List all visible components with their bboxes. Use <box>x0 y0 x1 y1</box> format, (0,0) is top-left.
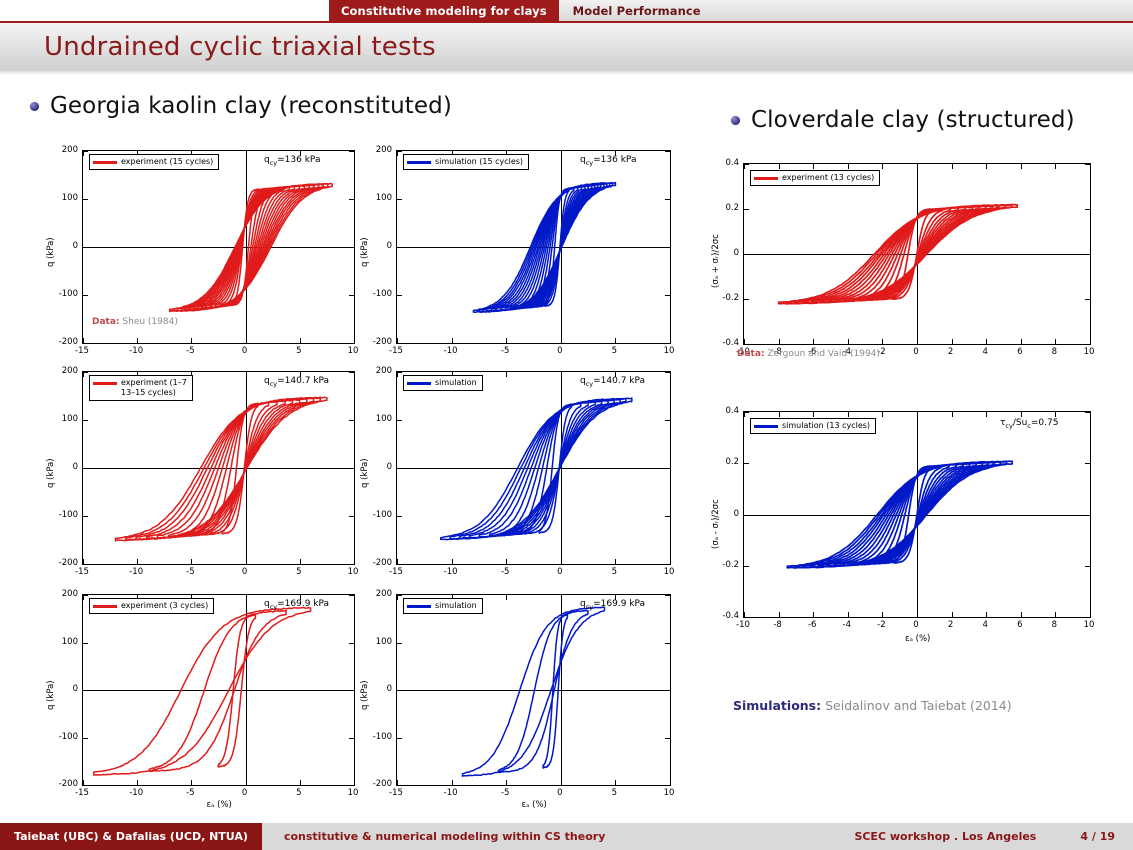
chart-xtick-label: 0 <box>557 788 562 798</box>
chart-xtick-label: 5 <box>612 567 617 577</box>
chart-annotation-value: =169.9 kPa <box>277 599 329 609</box>
chart-ytick-label: -100 <box>59 510 78 520</box>
chart-annotation-value: =136 kPa <box>593 155 636 165</box>
chart-xaxis-label: εₐ (%) <box>207 800 232 810</box>
nav-tab-constitutive-modeling[interactable]: Constitutive modeling for clays <box>329 0 559 21</box>
chart-xtick-label: 10 <box>348 567 359 577</box>
section-heading-cloverdale: Cloverdale clay (structured) <box>731 107 1075 133</box>
chart-ytick-label: -200 <box>373 779 392 789</box>
chart-ytick-label: -200 <box>59 558 78 568</box>
page-title: Undrained cyclic triaxial tests <box>0 32 436 62</box>
chart-xtick-label: 2 <box>948 347 953 357</box>
chart-legend-label: simulation (13 cycles) <box>782 421 870 431</box>
chart-ytick-label: 0 <box>73 462 78 472</box>
section-heading-right-label: Cloverdale clay (structured) <box>751 107 1075 133</box>
chart-xtick-label: -5 <box>501 346 509 356</box>
chart-annotation-value: =169.9 kPa <box>593 599 645 609</box>
citation-data-sheu: Data: Sheu (1984) <box>92 317 178 327</box>
chart-xtick-label: 5 <box>612 346 617 356</box>
chart-axes-gk-sim-2: simulationqcy=140.7 kPa <box>396 371 671 565</box>
chart-xtick-label: 6 <box>1017 347 1022 357</box>
chart-gk-exp-1: experiment (15 cycles)qcy=136 kPa-15-10-… <box>82 150 355 344</box>
chart-xtick-label: -5 <box>186 346 194 356</box>
chart-ytick-label: 0 <box>734 509 739 519</box>
citation-data-zergoun: Data: Zergoun and Vaid (1994) <box>737 349 880 359</box>
chart-gk-sim-1: simulation (15 cycles)qcy=136 kPa-15-10-… <box>396 150 671 344</box>
chart-yaxis-label: q (kPa) <box>360 458 370 488</box>
chart-annotation-gk-exp-3: qcy=169.9 kPa <box>264 599 329 611</box>
chart-ytick-label: 100 <box>62 193 78 203</box>
chart-ytick-label: 100 <box>376 193 392 203</box>
chart-xtick-label: -10 <box>444 788 458 798</box>
chart-xtick-label: -5 <box>501 788 509 798</box>
chart-xtick-label: -2 <box>877 620 885 630</box>
chart-legend-cv-sim: simulation (13 cycles) <box>750 418 876 434</box>
citation-sim-label: Simulations: <box>733 698 821 713</box>
citation-data-text: Sheu (1984) <box>122 317 177 327</box>
chart-xtick-label: 0 <box>913 620 918 630</box>
chart-xtick <box>354 780 355 785</box>
chart-ytick-label: -200 <box>373 558 392 568</box>
bullet-dot-icon <box>30 102 39 111</box>
chart-ytick <box>1085 344 1090 345</box>
chart-gk-exp-2: experiment (1–713–15 cycles)qcy=140.7 kP… <box>82 371 355 565</box>
chart-annotation-value: =140.7 kPa <box>593 376 645 386</box>
chart-legend-gk-sim-3: simulation <box>403 598 483 614</box>
chart-ytick-label: -100 <box>373 289 392 299</box>
footer-meta: SCEC workshop . Los Angeles 4 / 19 <box>854 830 1115 843</box>
chart-xtick-label: 10 <box>664 567 675 577</box>
citation-simulations: Simulations: Seidalinov and Taiebat (201… <box>733 698 1012 713</box>
chart-xtick-label: 10 <box>1084 347 1095 357</box>
chart-xtick-label: 10 <box>1084 620 1095 630</box>
chart-legend-label: simulation <box>435 378 477 388</box>
chart-xtick-label: 10 <box>664 346 675 356</box>
chart-legend-swatch <box>754 177 778 180</box>
chart-ytick <box>83 343 88 344</box>
chart-ytick-label: -200 <box>59 337 78 347</box>
chart-legend-label: simulation <box>435 601 477 611</box>
chart-gk-sim-2: simulationqcy=140.7 kPa-15-10-5051020010… <box>396 371 671 565</box>
chart-xtick <box>354 372 355 377</box>
chart-xtick-label: 8 <box>1052 347 1057 357</box>
chart-legend-label: experiment (1–713–15 cycles) <box>121 378 187 398</box>
chart-legend-label: experiment (13 cycles) <box>782 173 874 183</box>
chart-legend-swatch <box>407 605 431 608</box>
chart-legend-gk-sim-2: simulation <box>403 375 483 391</box>
chart-cv-sim: simulation (13 cycles)τcy/Suc=0.75-10-8-… <box>743 411 1091 618</box>
chart-ytick-label: 0.4 <box>725 158 739 168</box>
chart-ytick <box>744 344 749 345</box>
chart-xtick-label: 10 <box>348 346 359 356</box>
chart-series-gk-sim-3 <box>397 595 670 785</box>
chart-cv-exp: experiment (13 cycles)-10-8-6-4-20246810… <box>743 163 1091 345</box>
chart-xtick <box>670 559 671 564</box>
chart-annotation-gk-exp-1: qcy=136 kPa <box>264 155 320 167</box>
chart-ytick <box>665 564 670 565</box>
chart-ytick <box>744 617 749 618</box>
chart-axes-gk-exp-2: experiment (1–713–15 cycles)qcy=140.7 kP… <box>82 371 355 565</box>
chart-xtick-label: -10 <box>444 567 458 577</box>
chart-annotation-gk-exp-2: qcy=140.7 kPa <box>264 376 329 388</box>
title-band: Undrained cyclic triaxial tests <box>0 21 1133 70</box>
chart-annotation-subscript: cy <box>1005 422 1012 430</box>
chart-xtick-label: -15 <box>75 346 89 356</box>
chart-legend-gk-sim-1: simulation (15 cycles) <box>403 154 529 170</box>
chart-xtick-label: 0 <box>913 347 918 357</box>
chart-legend-gk-exp-2: experiment (1–713–15 cycles) <box>89 375 193 401</box>
chart-xtick-label: 10 <box>664 788 675 798</box>
chart-ytick <box>83 564 88 565</box>
section-heading-left-label: Georgia kaolin clay (reconstituted) <box>50 93 452 119</box>
chart-xtick-label: 0 <box>242 346 247 356</box>
chart-xtick-label: -10 <box>129 346 143 356</box>
chart-ytick-label: 0.4 <box>725 406 739 416</box>
citation-data-label: Data: <box>737 349 765 359</box>
chart-xtick-label: 0 <box>242 788 247 798</box>
chart-xtick-label: -10 <box>129 567 143 577</box>
chart-xtick <box>670 595 671 600</box>
chart-xtick-label: -5 <box>186 567 194 577</box>
chart-xtick-label: -10 <box>736 620 750 630</box>
chart-ytick-label: -100 <box>59 732 78 742</box>
chart-annotation-gk-sim-3: qcy=169.9 kPa <box>580 599 645 611</box>
chart-annotation-cv-sim: τcy/Suc=0.75 <box>1000 418 1058 430</box>
header-bar-filler <box>715 0 1133 21</box>
chart-ytick <box>397 785 402 786</box>
chart-xtick <box>670 151 671 156</box>
chart-ytick-label: 200 <box>62 366 78 376</box>
chart-axes-cv-exp: experiment (13 cycles) <box>743 163 1091 345</box>
footer-right-group: constitutive & numerical modeling within… <box>262 823 1133 850</box>
footer-page-number: 4 / 19 <box>1080 830 1115 843</box>
chart-xtick-label: -6 <box>808 620 816 630</box>
chart-legend-swatch <box>407 382 431 385</box>
chart-legend-swatch <box>93 605 117 608</box>
chart-xtick-label: -15 <box>75 567 89 577</box>
chart-ytick-label: -0.4 <box>722 611 739 621</box>
chart-axes-cv-sim: simulation (13 cycles)τcy/Suc=0.75 <box>743 411 1091 618</box>
chart-axes-gk-sim-3: simulationqcy=169.9 kPa <box>396 594 671 786</box>
chart-yaxis-label: q (kPa) <box>360 680 370 710</box>
chart-legend-swatch <box>754 425 778 428</box>
chart-ytick-label: 200 <box>376 589 392 599</box>
chart-legend-swatch <box>407 161 431 164</box>
chart-xtick <box>354 151 355 156</box>
chart-ytick-label: 0 <box>73 684 78 694</box>
citation-data-label: Data: <box>92 317 120 327</box>
chart-ytick-label: 100 <box>376 637 392 647</box>
chart-series-gk-exp-1 <box>83 151 354 343</box>
chart-xtick-label: -15 <box>389 788 403 798</box>
chart-xtick <box>670 372 671 377</box>
chart-xtick <box>670 780 671 785</box>
chart-xtick <box>354 338 355 343</box>
chart-yaxis-label: q (kPa) <box>46 237 56 267</box>
chart-xtick-label: -15 <box>389 346 403 356</box>
chart-ytick-label: -200 <box>373 337 392 347</box>
chart-ytick-label: -0.4 <box>722 338 739 348</box>
chart-annotation-gk-sim-2: qcy=140.7 kPa <box>580 376 645 388</box>
chart-xtick-label: 5 <box>612 788 617 798</box>
chart-ytick <box>1085 617 1090 618</box>
chart-xtick-label: 8 <box>1052 620 1057 630</box>
chart-ytick <box>83 785 88 786</box>
chart-series-cv-exp <box>744 164 1090 344</box>
chart-yaxis-label: (σₐ - σᵣ)/2σᴄ <box>711 499 721 549</box>
chart-legend-swatch <box>93 382 117 385</box>
chart-axes-gk-sim-1: simulation (15 cycles)qcy=136 kPa <box>396 150 671 344</box>
chart-legend-label: experiment (15 cycles) <box>121 157 213 167</box>
chart-gk-sim-3: simulationqcy=169.9 kPa-15-10-5051020010… <box>396 594 671 786</box>
chart-ytick <box>349 564 354 565</box>
chart-xtick <box>1090 339 1091 344</box>
citation-sim-text: Seidalinov and Taiebat (2014) <box>825 698 1012 713</box>
chart-axes-gk-exp-1: experiment (15 cycles)qcy=136 kPa <box>82 150 355 344</box>
chart-xtick-label: 0 <box>557 346 562 356</box>
chart-xtick-label: 4 <box>982 347 987 357</box>
chart-xaxis-label: εₐ (%) <box>905 634 930 644</box>
chart-xtick-label: 2 <box>948 620 953 630</box>
chart-xtick-label: 0 <box>557 567 562 577</box>
chart-ytick-label: 0 <box>73 241 78 251</box>
chart-legend-cv-exp: experiment (13 cycles) <box>750 170 880 186</box>
chart-yaxis-label: q (kPa) <box>360 237 370 267</box>
chart-series-cv-sim <box>744 412 1090 617</box>
chart-xtick-label: -10 <box>129 788 143 798</box>
chart-annotation-gk-sim-1: qcy=136 kPa <box>580 155 636 167</box>
chart-annotation-value: =140.7 kPa <box>277 376 329 386</box>
chart-series-gk-sim-1 <box>397 151 670 343</box>
chart-ytick-label: 100 <box>376 414 392 424</box>
bullet-dot-icon <box>731 116 740 125</box>
footer-authors: Taiebat (UBC) & Dafalias (UCD, NTUA) <box>0 823 262 850</box>
header-spacer <box>0 0 329 21</box>
chart-series-gk-exp-3 <box>83 595 354 785</box>
chart-xtick <box>1090 412 1091 417</box>
chart-xtick-label: -4 <box>843 620 851 630</box>
title-left-strip <box>0 23 16 70</box>
chart-ytick-label: 200 <box>62 145 78 155</box>
chart-ytick-label: 200 <box>62 589 78 599</box>
chart-legend-label-line2: 13–15 cycles) <box>121 388 187 398</box>
chart-xtick-label: 0 <box>242 567 247 577</box>
chart-xtick-label: -5 <box>186 788 194 798</box>
chart-xtick-label: 5 <box>296 346 301 356</box>
chart-xtick-label: -15 <box>75 788 89 798</box>
chart-xtick-label: -8 <box>773 620 781 630</box>
chart-ytick-label: -0.2 <box>722 560 739 570</box>
chart-yaxis-label: q (kPa) <box>46 680 56 710</box>
chart-ytick <box>349 343 354 344</box>
header-bar: Constitutive modeling for clays Model Pe… <box>0 0 1133 21</box>
chart-xtick-label: -10 <box>444 346 458 356</box>
chart-xtick-label: 10 <box>348 788 359 798</box>
chart-ytick-label: -100 <box>373 510 392 520</box>
chart-annotation-value: /Su <box>1013 418 1027 428</box>
citation-data-text: Zergoun and Vaid (1994) <box>767 349 880 359</box>
chart-ytick-label: 100 <box>62 414 78 424</box>
chart-xtick-label: 6 <box>1017 620 1022 630</box>
chart-legend-swatch <box>93 161 117 164</box>
chart-xtick-label: 5 <box>296 567 301 577</box>
chart-annotation-value: =136 kPa <box>277 155 320 165</box>
chart-ytick <box>665 343 670 344</box>
chart-ytick-label: -200 <box>59 779 78 789</box>
chart-ytick-label: 0.2 <box>725 203 739 213</box>
chart-ytick <box>349 785 354 786</box>
footer-subject: constitutive & numerical modeling within… <box>284 830 605 843</box>
chart-ytick-label: -100 <box>59 289 78 299</box>
chart-axes-gk-exp-3: experiment (3 cycles)qcy=169.9 kPa <box>82 594 355 786</box>
section-heading-georgia-kaolin: Georgia kaolin clay (reconstituted) <box>30 93 452 119</box>
title-shadow <box>0 70 1133 75</box>
chart-ytick-label: 200 <box>376 366 392 376</box>
chart-series-gk-sim-2 <box>397 372 670 564</box>
chart-xtick-label: -5 <box>501 567 509 577</box>
chart-legend-label: experiment (3 cycles) <box>121 601 208 611</box>
chart-annotation-value-2: =0.75 <box>1031 418 1059 428</box>
chart-legend-label-line1: experiment (1–7 <box>121 378 187 388</box>
chart-legend-gk-exp-1: experiment (15 cycles) <box>89 154 219 170</box>
chart-yaxis-label: (σₐ + σᵣ)/2σᴄ <box>711 234 721 288</box>
chart-ytick <box>665 785 670 786</box>
chart-xtick-label: -15 <box>389 567 403 577</box>
chart-xtick <box>670 338 671 343</box>
nav-tab-model-performance[interactable]: Model Performance <box>559 0 715 21</box>
chart-xaxis-label: εₐ (%) <box>522 800 547 810</box>
chart-gk-exp-3: experiment (3 cycles)qcy=169.9 kPa-15-10… <box>82 594 355 786</box>
chart-ytick-label: 200 <box>376 145 392 155</box>
footer-bar: Taiebat (UBC) & Dafalias (UCD, NTUA) con… <box>0 823 1133 850</box>
chart-xtick <box>354 559 355 564</box>
chart-ytick <box>397 564 402 565</box>
chart-ytick <box>397 343 402 344</box>
chart-ytick-label: 0 <box>734 248 739 258</box>
chart-ytick-label: 0 <box>387 462 392 472</box>
chart-xtick-label: 5 <box>296 788 301 798</box>
chart-ytick-label: 0 <box>387 684 392 694</box>
footer-venue: SCEC workshop . Los Angeles <box>854 830 1036 843</box>
chart-ytick-label: -100 <box>373 732 392 742</box>
chart-xtick <box>1090 612 1091 617</box>
chart-legend-label: simulation (15 cycles) <box>435 157 523 167</box>
chart-ytick-label: 0.2 <box>725 457 739 467</box>
chart-yaxis-label: q (kPa) <box>46 458 56 488</box>
chart-legend-gk-exp-3: experiment (3 cycles) <box>89 598 214 614</box>
chart-ytick-label: 100 <box>62 637 78 647</box>
chart-xtick-label: 4 <box>982 620 987 630</box>
chart-ytick-label: 0 <box>387 241 392 251</box>
chart-xtick <box>1090 164 1091 169</box>
chart-xtick <box>354 595 355 600</box>
chart-ytick-label: -0.2 <box>722 293 739 303</box>
